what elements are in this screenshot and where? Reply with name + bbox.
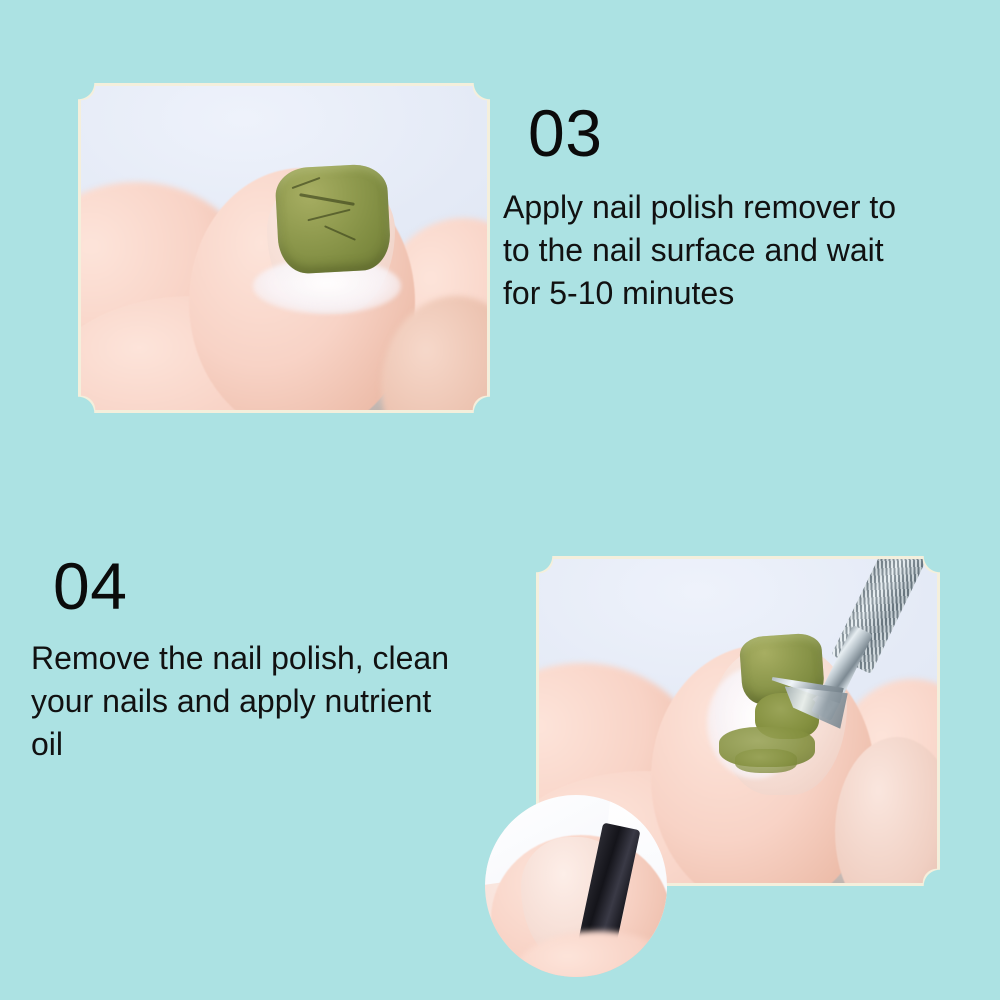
step-04-number: 04 xyxy=(53,553,127,619)
step-04-line-3: oil xyxy=(31,723,531,766)
gel-flake-3 xyxy=(735,749,797,773)
step-03-number: 03 xyxy=(528,100,602,166)
step-03-description: Apply nail polish remover to to the nail… xyxy=(503,186,989,315)
step-03-line-2: to the nail surface and wait xyxy=(503,229,989,272)
clean-nail-with-oil-brush-scene xyxy=(485,795,667,977)
step-03-photo-frame xyxy=(78,83,490,413)
step-04-description: Remove the nail polish, clean your nails… xyxy=(31,637,531,766)
step-04-line-2: your nails and apply nutrient xyxy=(31,680,531,723)
step-03-line-1: Apply nail polish remover to xyxy=(503,186,989,229)
step-03-line-3: for 5-10 minutes xyxy=(503,272,989,315)
green-gel-polish xyxy=(274,163,391,275)
step-04-closeup-inset xyxy=(485,795,667,977)
nail-with-green-polish-scene xyxy=(81,86,487,410)
step-04-line-1: Remove the nail polish, clean xyxy=(31,637,531,680)
step-03-photo xyxy=(81,86,487,410)
poster-canvas: 03 Apply nail polish remover to to the n… xyxy=(0,0,1000,1000)
